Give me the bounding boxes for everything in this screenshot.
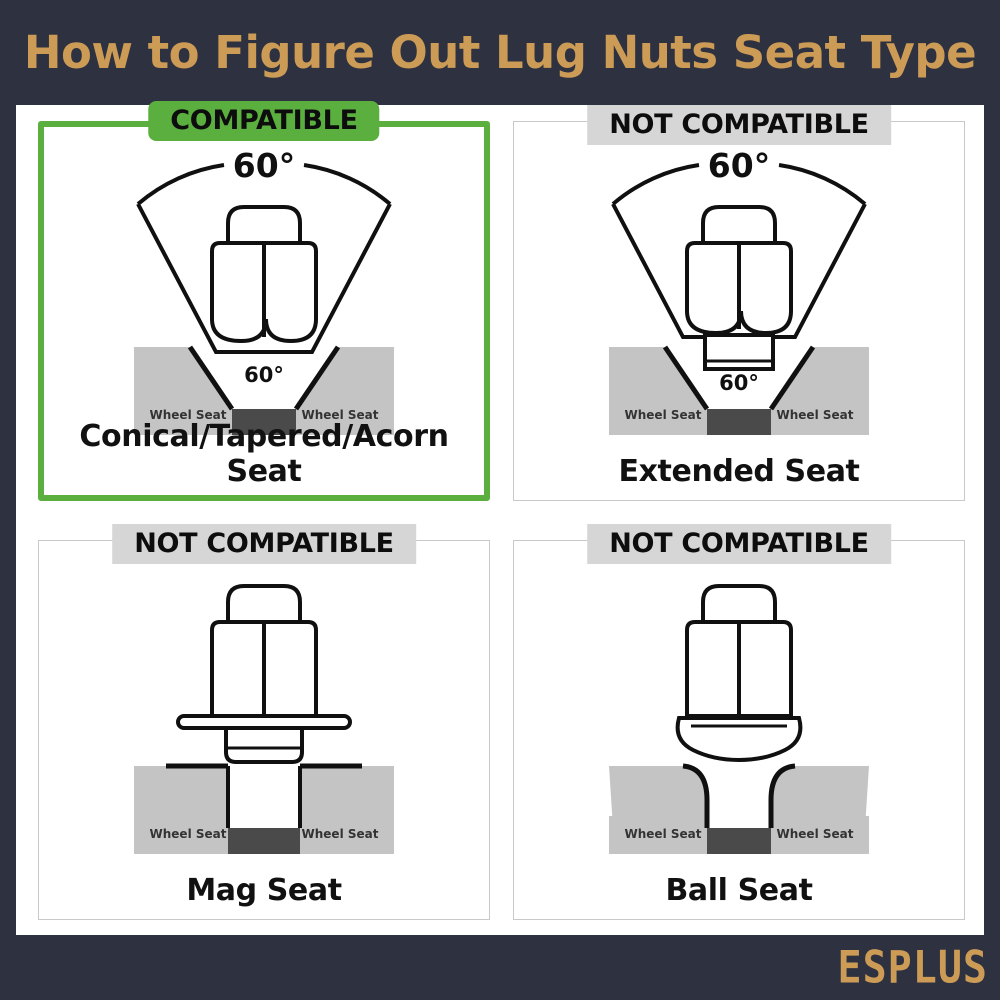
panel-mag-seat[interactable]: NOT COMPATIBLE — [38, 540, 490, 920]
wheel-seat-label-right: Wheel Seat — [777, 827, 854, 841]
angle-label-seat: 60° — [244, 363, 284, 387]
panel-caption: Mag Seat — [38, 873, 490, 908]
diagram-extended-seat: 60° 60° Wheel Seat Wheel Seat — [513, 147, 965, 453]
panels-board: COMPATIBLE — [16, 105, 984, 935]
infographic-page: How to Figure Out Lug Nuts Seat Type COM… — [0, 0, 1000, 1000]
panel-caption: Conical/Tapered/Acorn Seat — [38, 419, 490, 489]
diagram-conical-seat: 60° 60° Wheel Seat Wheel Seat — [38, 147, 490, 453]
panel-caption: Ball Seat — [513, 873, 965, 908]
page-title: How to Figure Out Lug Nuts Seat Type — [24, 26, 976, 79]
angle-label-top: 60° — [233, 147, 295, 185]
diagram-mag-seat: Wheel Seat Wheel Seat — [38, 566, 490, 872]
status-badge-compatible: COMPATIBLE — [148, 101, 379, 141]
wheel-seat-label-right: Wheel Seat — [777, 408, 854, 422]
wheel-seat-label-left: Wheel Seat — [150, 827, 227, 841]
panel-extended-seat[interactable]: NOT COMPATIBLE — [513, 121, 965, 501]
status-badge-not-compatible: NOT COMPATIBLE — [587, 105, 891, 145]
status-badge-not-compatible: NOT COMPATIBLE — [112, 524, 416, 564]
angle-label-top: 60° — [708, 147, 770, 185]
wheel-seat-label-left: Wheel Seat — [625, 827, 702, 841]
wheel-seat-label-right: Wheel Seat — [302, 827, 379, 841]
panel-ball-seat[interactable]: NOT COMPATIBLE — [513, 540, 965, 920]
status-badge-not-compatible: NOT COMPATIBLE — [587, 524, 891, 564]
wheel-seat-label-left: Wheel Seat — [625, 408, 702, 422]
panel-conical-seat[interactable]: COMPATIBLE — [38, 121, 490, 501]
title-bar: How to Figure Out Lug Nuts Seat Type — [0, 0, 1000, 105]
brand-logo: ESPLUS — [838, 942, 989, 994]
diagram-ball-seat: Wheel Seat Wheel Seat — [513, 566, 965, 872]
panel-caption: Extended Seat — [513, 454, 965, 489]
angle-label-seat: 60° — [719, 371, 759, 395]
